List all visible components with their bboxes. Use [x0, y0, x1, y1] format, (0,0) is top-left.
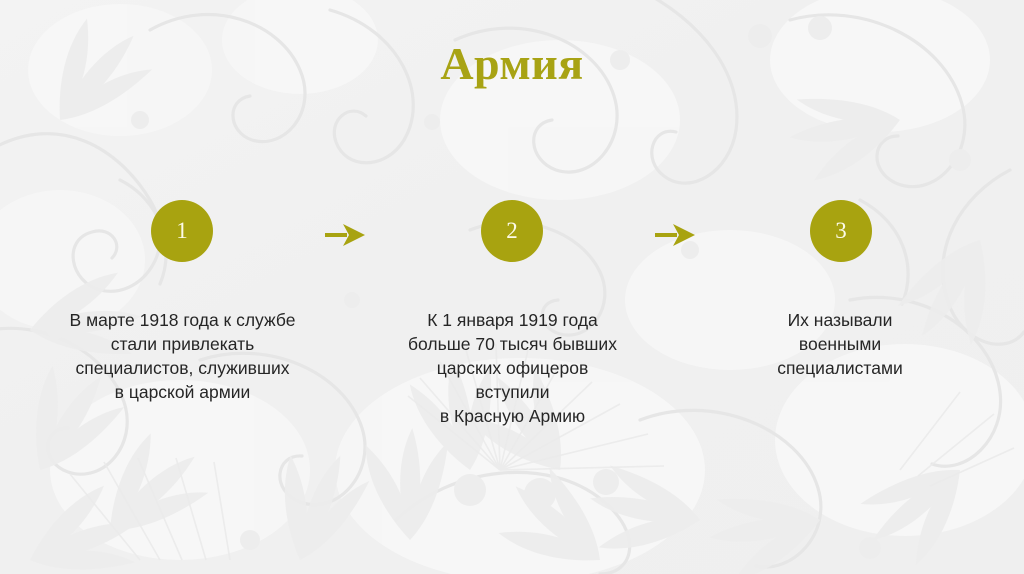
step-circle-3[interactable]: 3	[810, 200, 872, 262]
step-circle-1[interactable]: 1	[151, 200, 213, 262]
arrow-right-icon	[323, 222, 367, 248]
step-circle-2[interactable]: 2	[481, 200, 543, 262]
step-caption-2: К 1 января 1919 года больше 70 тысяч быв…	[360, 308, 665, 428]
step-caption-3: Их называли военными специалистами	[700, 308, 980, 380]
slide-canvas: Армия 1 2 3 В марте 1918 года к службе с…	[0, 0, 1024, 574]
step-caption-1: В марте 1918 года к службе стали привлек…	[30, 308, 335, 404]
arrow-right-icon	[653, 222, 697, 248]
slide-title: Армия	[0, 38, 1024, 90]
step-markers-row: 1 2 3	[0, 200, 1024, 290]
